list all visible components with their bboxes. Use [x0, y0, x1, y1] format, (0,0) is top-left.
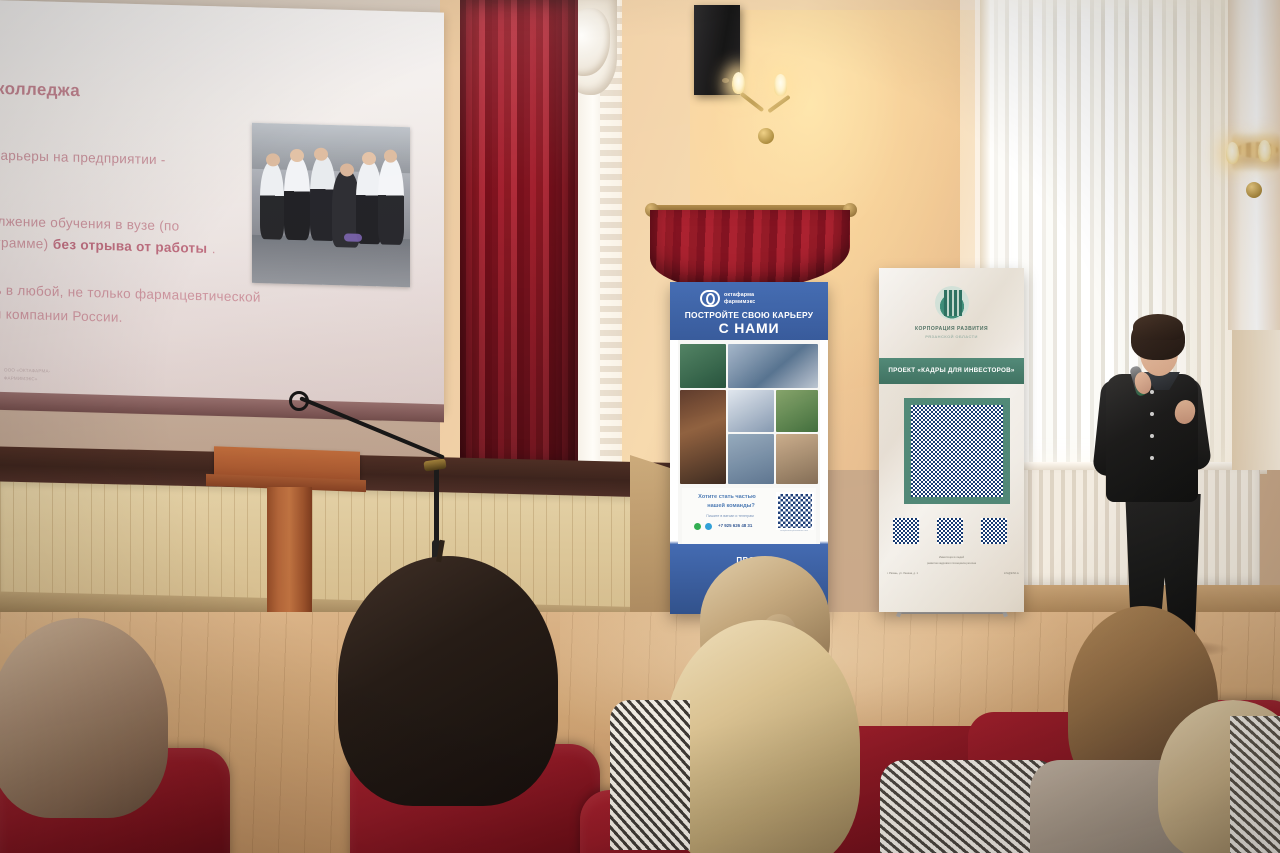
microphone-head [289, 391, 309, 411]
slide-photo-group [252, 123, 410, 287]
octapharma-headline-1: ПОСТРОЙТЕ СВОЮ КАРЬЕРУ [670, 310, 828, 320]
corporation-logo-line-1: КОРПОРАЦИЯ РАЗВИТИЯ [879, 326, 1024, 332]
collage-photo-city-view [776, 434, 818, 484]
attendee-brunette [338, 556, 558, 806]
octapharma-logo-line-1: октафарма [724, 292, 755, 299]
corporation-footer-line-3: г. Рязань, ул. Ленина, д. 1 [887, 572, 957, 576]
corporation-footer-line-2: развитие кадрового потенциала региона [879, 562, 1024, 566]
octapharma-headline-2: С НАМИ [670, 320, 828, 336]
presenter-hair-top [1133, 314, 1183, 340]
speaker-led-indicator [722, 78, 729, 83]
stage-curtain-shading [460, 0, 578, 470]
corporation-footer-line-1: Инвестиции в людей [879, 556, 1024, 560]
slide-line-2b-prefix: ограмме) [0, 235, 48, 252]
octapharma-qr-caption: octapharma-pharmimex.com [774, 530, 814, 532]
attendee-right-garment [1230, 716, 1280, 853]
sconce-bulb-left-b [774, 74, 787, 96]
building-logo-icon [935, 286, 969, 320]
octapharma-cta-line-2: нашей команды? [688, 502, 774, 510]
collage-photo-factory-green [776, 390, 818, 432]
sconce-bulb-left-a [732, 72, 745, 94]
building-logo-bars [944, 290, 962, 316]
slide-line-2b-suffix: . [212, 241, 216, 256]
octapharma-qr-code[interactable] [776, 492, 814, 530]
corporation-logo-line-2: РЯЗАНСКОЙ ОБЛАСТИ [879, 334, 1024, 339]
octapharma-cta-sub: Пишите в ватсап и телеграм [684, 514, 776, 519]
corporation-project-text: ПРОЕКТ «КАДРЫ ДЛЯ ИНВЕСТОРОВ» [879, 367, 1024, 374]
corporation-logo [935, 286, 969, 320]
telegram-icon [705, 523, 712, 530]
collage-photo-team [680, 390, 726, 484]
infinity-logo-icon [700, 290, 720, 307]
octapharma-phone: +7 925 626 48 31 [718, 523, 752, 528]
octapharma-logo: октафарма фармимэкс [700, 290, 755, 307]
sconce-base-left [758, 128, 774, 144]
slide-title: колледжа [0, 79, 80, 101]
presenter-shirt-button-1 [1150, 390, 1154, 394]
corporation-qr-frame[interactable] [904, 398, 1010, 504]
sconce-bulb-right-b [1258, 140, 1271, 162]
corporation-qr-small-1[interactable] [893, 518, 919, 544]
presentation-hall-photo: колледжа карьеры на предприятии - олжени… [0, 0, 1280, 853]
attendee-blonde-left [0, 618, 168, 818]
presenter-shirt-button-3 [1150, 434, 1154, 438]
sconce-bulb-right-a [1226, 142, 1239, 164]
window-frame-right [1232, 330, 1280, 470]
whatsapp-icon [694, 523, 701, 530]
collage-photo-campus [728, 434, 774, 484]
presenter-shirt-button-4 [1150, 456, 1154, 460]
octapharma-cta-line-1: Хотите стать частью [684, 493, 770, 501]
corporation-qr-small-2[interactable] [937, 518, 963, 544]
collage-photo-clean-room [728, 344, 818, 388]
attendee-patterned-garment [610, 700, 690, 850]
octapharma-photo-collage [680, 344, 818, 484]
banner-corporation: КОРПОРАЦИЯ РАЗВИТИЯ РЯЗАНСКОЙ ОБЛАСТИ ПР… [879, 268, 1024, 612]
collage-photo-students [728, 390, 774, 432]
octapharma-logo-line-2: фармимэкс [724, 299, 755, 306]
slide-line-4: ой компании России. [0, 304, 123, 327]
octapharma-cta-block: Хотите стать частью нашей команды? Пишит… [682, 488, 816, 546]
presenter-shirt-button-2 [1150, 412, 1154, 416]
slide-footer-line-1: ООО «ОКТАФАРМА- [4, 367, 50, 375]
column-capital-ornament [1236, 142, 1278, 158]
corporation-project-strip: ПРОЕКТ «КАДРЫ ДЛЯ ИНВЕСТОРОВ» [879, 358, 1024, 384]
corporation-qr-code[interactable] [911, 405, 1003, 497]
attendee-blonde-center [664, 620, 860, 853]
sconce-base-right [1246, 182, 1262, 198]
slide-line-2b-bold: без отрыва от работы [53, 237, 207, 256]
corporation-qr-small-3[interactable] [981, 518, 1007, 544]
corporation-footer-line-4: info@kr62.ru [957, 572, 1019, 576]
collage-photo-lab-worker [680, 344, 726, 388]
slide-footer-line-2: ФАРМИМЭКС» [4, 376, 38, 384]
